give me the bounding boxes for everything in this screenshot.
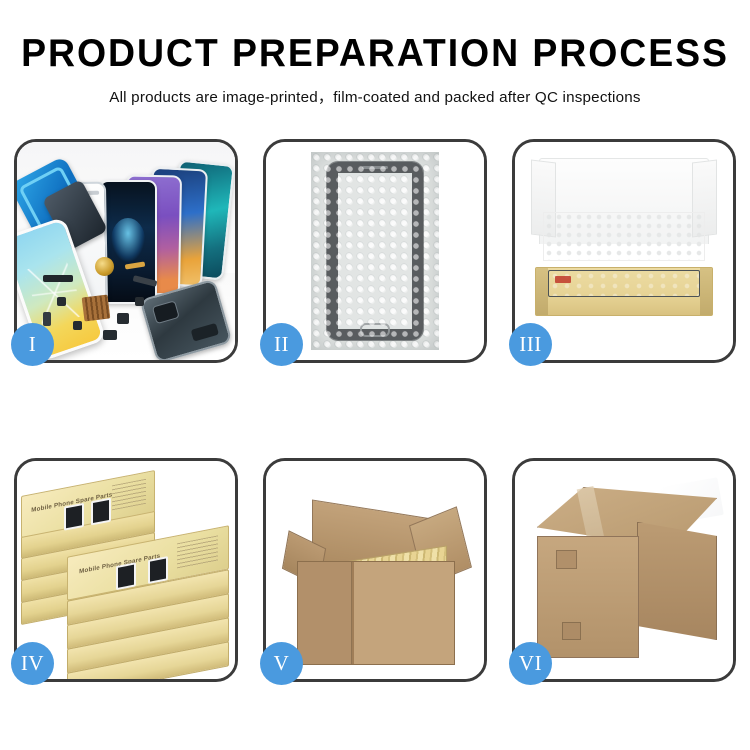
- step-panel-2: II: [263, 139, 487, 363]
- carton-seam-icon: [562, 622, 581, 640]
- page-title: PRODUCT PREPARATION PROCESS: [15, 34, 735, 73]
- step-panel-6: VI: [512, 458, 736, 682]
- spec-lines-icon: [112, 479, 146, 510]
- screen-print-icon: [91, 497, 111, 525]
- open-carton: [282, 495, 470, 665]
- carton-seam-icon: [556, 550, 577, 569]
- component-chip-icon: [135, 297, 144, 306]
- phone-parts-illustration: [17, 142, 235, 360]
- screen-print-icon: [64, 502, 84, 530]
- step-image-3: [515, 142, 733, 360]
- step-badge-3: III: [509, 323, 552, 366]
- carton-body-icon: [297, 561, 455, 665]
- bubble-wrap-sheet: [311, 152, 439, 350]
- screen-print-icon: [148, 557, 168, 585]
- sealed-carton: [529, 487, 721, 661]
- step-image-5: [266, 461, 484, 679]
- component-chip-icon: [57, 297, 66, 306]
- step-panel-3: III: [512, 139, 736, 363]
- step-badge-6: VI: [509, 642, 552, 685]
- step-panel-5: V: [263, 458, 487, 682]
- phone-screen-icon: [327, 162, 423, 340]
- component-chip-icon: [103, 330, 117, 340]
- component-chip-icon: [117, 313, 129, 324]
- stacked-boxes-illustration: Mobile Phone Spare Parts Mobile Phone: [17, 461, 235, 679]
- screen-print-icon: [116, 563, 136, 591]
- step-badge-2: II: [260, 323, 303, 366]
- process-steps-grid: I II: [14, 139, 736, 682]
- box-stack: Mobile Phone Spare Parts Mobile Phone: [21, 471, 231, 671]
- step-badge-1: I: [11, 323, 54, 366]
- wrapped-screen-icon: [548, 270, 700, 297]
- mailer-box-illustration: [515, 142, 733, 360]
- step-panel-4: Mobile Phone Spare Parts Mobile Phone: [14, 458, 238, 682]
- step-image-6: [515, 461, 733, 679]
- speaker-coil-icon: [95, 257, 114, 276]
- step-image-1: [17, 142, 235, 360]
- kraft-tray-icon: [535, 267, 714, 316]
- step-badge-5: V: [260, 642, 303, 685]
- spec-lines-icon: [177, 535, 218, 569]
- header: PRODUCT PREPARATION PROCESS All products…: [0, 0, 750, 107]
- step-panel-1: I: [14, 139, 238, 363]
- step-image-4: Mobile Phone Spare Parts Mobile Phone: [17, 461, 235, 679]
- step-badge-4: IV: [11, 642, 54, 685]
- component-chip-icon: [43, 312, 51, 326]
- kraft-mailer: [527, 158, 721, 316]
- page-subtitle: All products are image-printed，film-coat…: [0, 85, 750, 107]
- carton-side-icon: [637, 522, 718, 640]
- chip-grid-icon: [82, 295, 111, 322]
- earpiece-bar-icon: [43, 275, 73, 282]
- step-image-2: [266, 142, 484, 360]
- product-preparation-infographic: PRODUCT PREPARATION PROCESS All products…: [0, 0, 750, 750]
- foam-padding-icon: [543, 212, 706, 261]
- component-chip-icon: [73, 321, 82, 330]
- carton-front-icon: [537, 536, 639, 658]
- open-carton-illustration: [266, 461, 484, 679]
- bubble-wrap-illustration: [266, 142, 484, 360]
- sealed-carton-illustration: [515, 461, 733, 679]
